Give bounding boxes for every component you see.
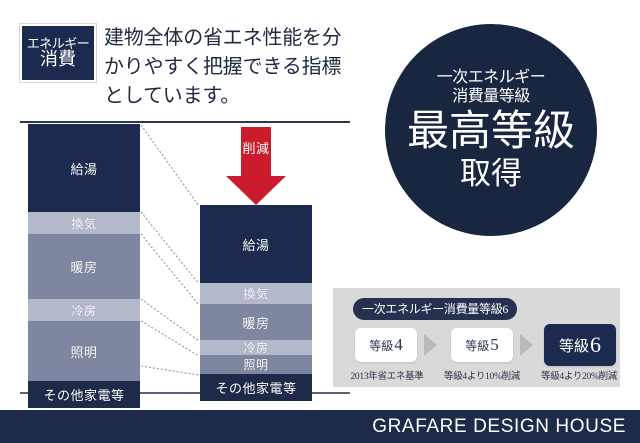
grade-steps-row: 等級 4 等級 5 等級 6 2013年省エネ基準 等級4より10%削減 等級4…: [333, 324, 620, 387]
grade-step-6-caption: 等級4より20%削減: [529, 368, 629, 382]
bar-segment: 換気: [200, 283, 312, 304]
badge-main-line1: 最高等級: [407, 109, 575, 155]
chart-top-rule: [20, 121, 350, 123]
badge-subtitle-line1: 一次エネルギー: [437, 69, 546, 87]
energy-tag-line1: エネルギー: [27, 37, 90, 51]
bar-segment: 照明: [28, 321, 140, 381]
energy-consumption-tag: エネルギー 消費: [20, 24, 96, 82]
grade-step-4: 等級 4: [355, 328, 417, 362]
bar-segment: その他家電等: [200, 374, 312, 401]
grade-step-4-label: 等級: [369, 337, 393, 354]
bar-segment: 冷房: [28, 299, 140, 321]
grade-step-6-number: 6: [590, 332, 601, 358]
badge-subtitle-line2: 消費量等級: [452, 88, 530, 106]
energy-tag-line2: 消費: [40, 50, 76, 69]
grade-step-5-number: 5: [490, 335, 499, 355]
bar-segment: 給湯: [200, 205, 312, 283]
badge-main-line2: 取得: [460, 157, 522, 191]
bar-segment: 冷房: [200, 340, 312, 355]
grade-step-5-label: 等級: [465, 337, 489, 354]
page-headline: 建物全体の省エネ性能を分かりやすく把握できる指標としています。: [104, 24, 360, 111]
arrow-right-icon-1: [424, 334, 437, 356]
reduction-arrow: 削減: [226, 127, 286, 205]
stacked-bar-after: 給湯換気暖房冷房照明その他家電等: [200, 205, 312, 401]
bar-segment: 給湯: [28, 124, 140, 212]
grade-step-4-caption: 2013年省エネ基準: [339, 368, 435, 382]
grade-progression-panel: 一次エネルギー消費量等級6 等級 4 等級 5 等級 6 2013年省エネ基準 …: [333, 288, 620, 387]
grade-step-5-caption: 等級4より10%削減: [433, 368, 531, 382]
grade-pill-badge: 一次エネルギー消費量等級6: [353, 298, 517, 320]
stacked-bar-before: 給湯換気暖房冷房照明その他家電等: [28, 124, 140, 408]
arrow-head-icon: [226, 176, 286, 205]
arrow-right-icon-2: [520, 334, 533, 356]
top-grade-badge: 一次エネルギー 消費量等級 最高等級 取得: [385, 24, 597, 236]
bar-segment: その他家電等: [28, 381, 140, 408]
grade-step-6: 等級 6: [544, 324, 616, 366]
bar-segment: 照明: [200, 355, 312, 374]
grade-step-5: 等級 5: [451, 328, 513, 362]
grade-step-4-number: 4: [394, 335, 403, 355]
arrow-label: 削減: [226, 138, 286, 157]
footer-bar: GRAFARE DESIGN HOUSE: [0, 410, 640, 443]
bar-segment: 換気: [28, 212, 140, 234]
grade-step-6-label: 等級: [559, 335, 589, 356]
bar-segment: 暖房: [28, 234, 140, 299]
infographic-page: エネルギー 消費 建物全体の省エネ性能を分かりやすく把握できる指標としています。…: [0, 0, 640, 443]
brand-name: GRAFARE DESIGN HOUSE: [372, 416, 640, 438]
bar-segment: 暖房: [200, 304, 312, 340]
